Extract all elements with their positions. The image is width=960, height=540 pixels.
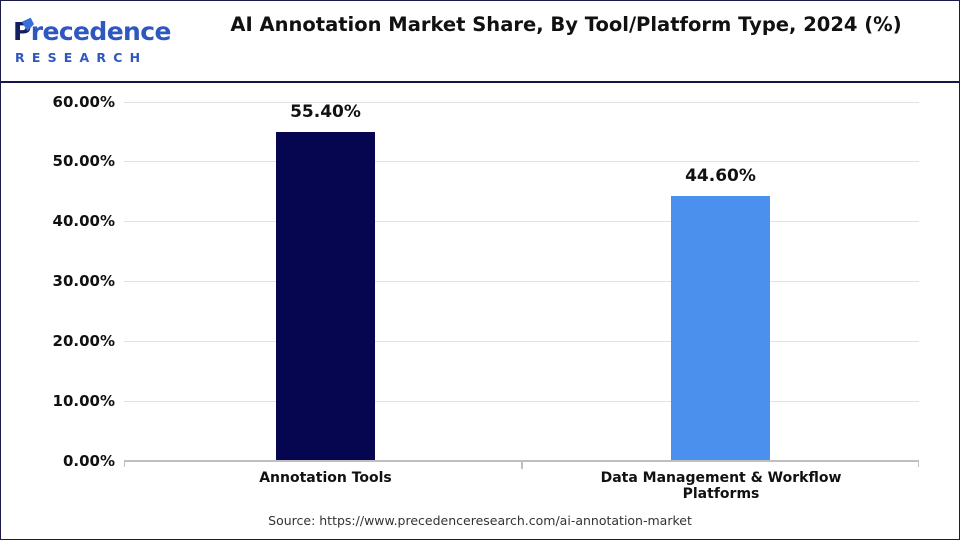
y-axis-label-50: 50.00% <box>23 152 115 170</box>
y-axis-label-0: 0.00% <box>23 452 115 470</box>
logo-wordmark: Precedence <box>13 17 173 49</box>
x-axis-tick-left <box>124 460 125 467</box>
chart-figure: Precedence RESEARCH AI Annotation Market… <box>0 0 960 540</box>
x-axis-tick-middle <box>521 462 523 469</box>
x-axis-label-annotation-tools: Annotation Tools <box>226 470 425 486</box>
figure-header: Precedence RESEARCH AI Annotation Market… <box>1 1 959 83</box>
logo-subtext: RESEARCH <box>15 50 147 65</box>
y-axis-label-60: 60.00% <box>23 93 115 111</box>
gridline-10 <box>124 401 919 402</box>
bar-annotation-tools[interactable]: 55.40% <box>276 132 375 460</box>
bar-value-annotation-tools: 55.40% <box>226 102 425 122</box>
logo-wordmark-rest: recedence <box>31 17 171 46</box>
gridline-40 <box>124 221 919 222</box>
precedence-research-logo: Precedence RESEARCH <box>13 17 173 69</box>
plot-area: 60.00% 50.00% 40.00% 30.00% 20.00% 10.00… <box>1 85 959 539</box>
y-axis-label-40: 40.00% <box>23 212 115 230</box>
y-axis-label-20: 20.00% <box>23 332 115 350</box>
x-axis-label-data-management-workflow-platforms: Data Management & Workflow Platforms <box>571 470 871 502</box>
page-title: AI Annotation Market Share, By Tool/Plat… <box>201 9 931 41</box>
source-caption: Source: https://www.precedenceresearch.c… <box>1 513 959 528</box>
gridline-50 <box>124 161 919 162</box>
gridline-20 <box>124 341 919 342</box>
y-axis-label-10: 10.00% <box>23 392 115 410</box>
bar-value-data-management-workflow-platforms: 44.60% <box>621 166 820 186</box>
x-axis-tick-right <box>918 460 919 467</box>
gridline-30 <box>124 281 919 282</box>
y-axis-label-30: 30.00% <box>23 272 115 290</box>
bar-data-management-workflow-platforms[interactable]: 44.60% <box>671 196 770 460</box>
